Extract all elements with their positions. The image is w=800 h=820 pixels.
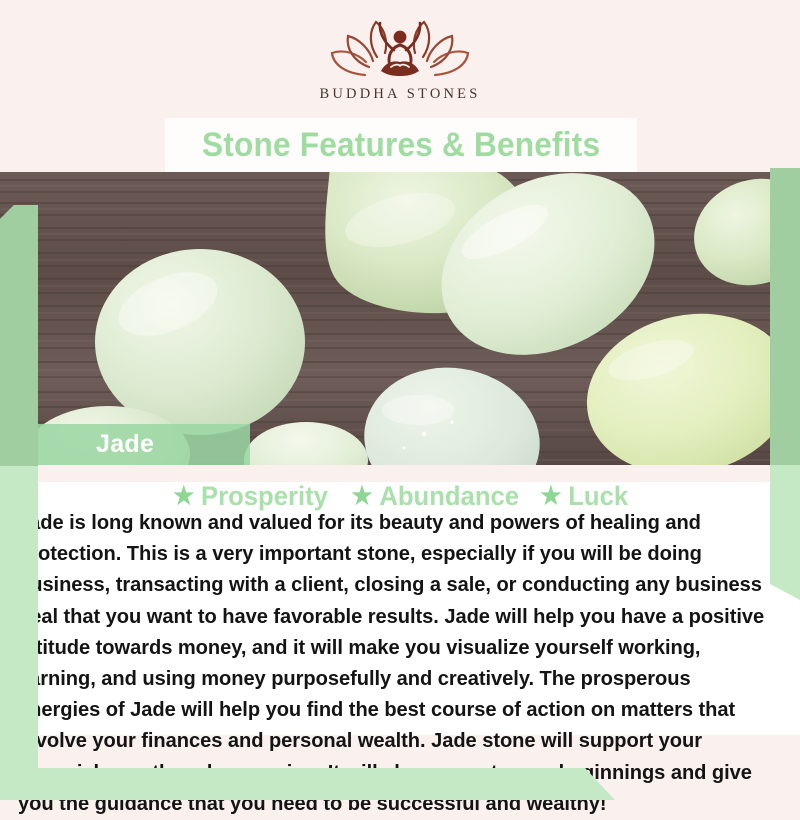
star-icon: ★ <box>351 484 372 509</box>
decor-bar-right-upper <box>770 168 800 465</box>
brand-header: BUDDHA STONES <box>0 0 800 118</box>
photo-caption-band: Jade <box>20 424 250 465</box>
brand-name: BUDDHA STONES <box>320 86 481 103</box>
infographic-page: BUDDHA STONES Stone Features & Benefits <box>0 0 800 800</box>
star-icon: ★ <box>541 484 562 509</box>
page-title: Stone Features & Benefits <box>202 126 600 165</box>
title-band: Stone Features & Benefits <box>165 118 637 172</box>
divider-strip-top <box>0 465 800 482</box>
lotus-meditation-figure-icon <box>325 15 475 81</box>
decor-bar-left-upper <box>0 205 38 466</box>
stone-name: Jade <box>96 432 154 457</box>
stone-photo <box>0 172 800 465</box>
star-icon: ★ <box>173 484 194 509</box>
